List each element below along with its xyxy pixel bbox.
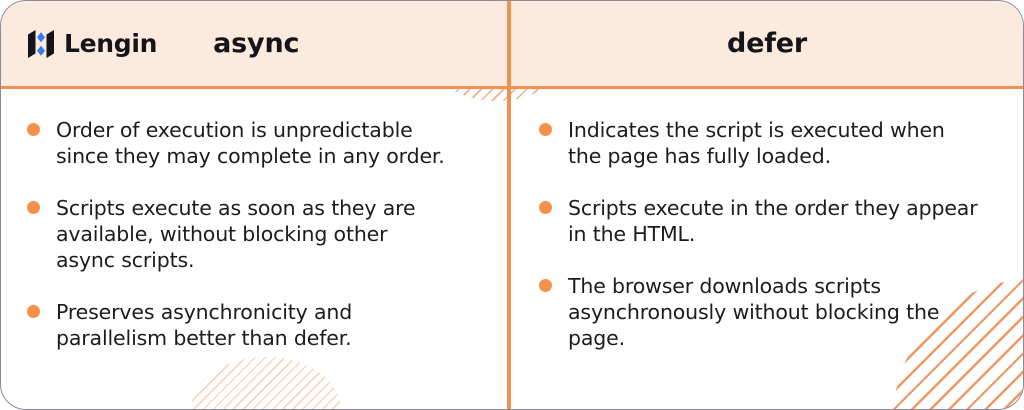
bullet-text: Order of execution is unpredictable sinc… — [56, 117, 446, 169]
bullet-dot-icon — [539, 123, 552, 136]
bullet-text: The browser downloads scripts asynchrono… — [568, 273, 978, 351]
list-item: Scripts execute in the order they appear… — [539, 195, 1003, 247]
bullet-list-async: Order of execution is unpredictable sinc… — [27, 117, 479, 351]
comparison-card: Lengin async defer Order of execution is… — [0, 0, 1024, 410]
list-item: Scripts execute as soon as they are avai… — [27, 195, 479, 273]
column-title-defer: defer — [727, 28, 807, 59]
bullet-text: Scripts execute in the order they appear… — [568, 195, 978, 247]
bullet-text: Preserves asynchronicity and parallelism… — [56, 299, 446, 351]
bullet-dot-icon — [27, 123, 40, 136]
brand: Lengin — [27, 29, 157, 59]
column-divider — [507, 1, 511, 410]
table-header: Lengin async defer — [1, 1, 1024, 89]
list-item: Order of execution is unpredictable sinc… — [27, 117, 479, 169]
bullet-list-defer: Indicates the script is executed when th… — [539, 117, 1003, 351]
list-item: Indicates the script is executed when th… — [539, 117, 1003, 169]
bullet-dot-icon — [27, 305, 40, 318]
list-item: Preserves asynchronicity and parallelism… — [27, 299, 479, 351]
bullet-text: Scripts execute as soon as they are avai… — [56, 195, 446, 273]
bullet-text: Indicates the script is executed when th… — [568, 117, 978, 169]
lengin-logo-icon — [27, 29, 55, 59]
bullet-dot-icon — [539, 279, 552, 292]
bullet-dot-icon — [27, 201, 40, 214]
header-cell-defer: defer — [509, 1, 1024, 86]
bullet-dot-icon — [539, 201, 552, 214]
brand-name: Lengin — [64, 29, 157, 58]
list-item: The browser downloads scripts asynchrono… — [539, 273, 1003, 351]
table-body: Order of execution is unpredictable sinc… — [1, 89, 1024, 410]
column-defer: Indicates the script is executed when th… — [509, 89, 1024, 410]
column-async: Order of execution is unpredictable sinc… — [1, 89, 509, 410]
column-title-async: async — [213, 28, 299, 59]
header-cell-async: Lengin async — [1, 1, 509, 86]
